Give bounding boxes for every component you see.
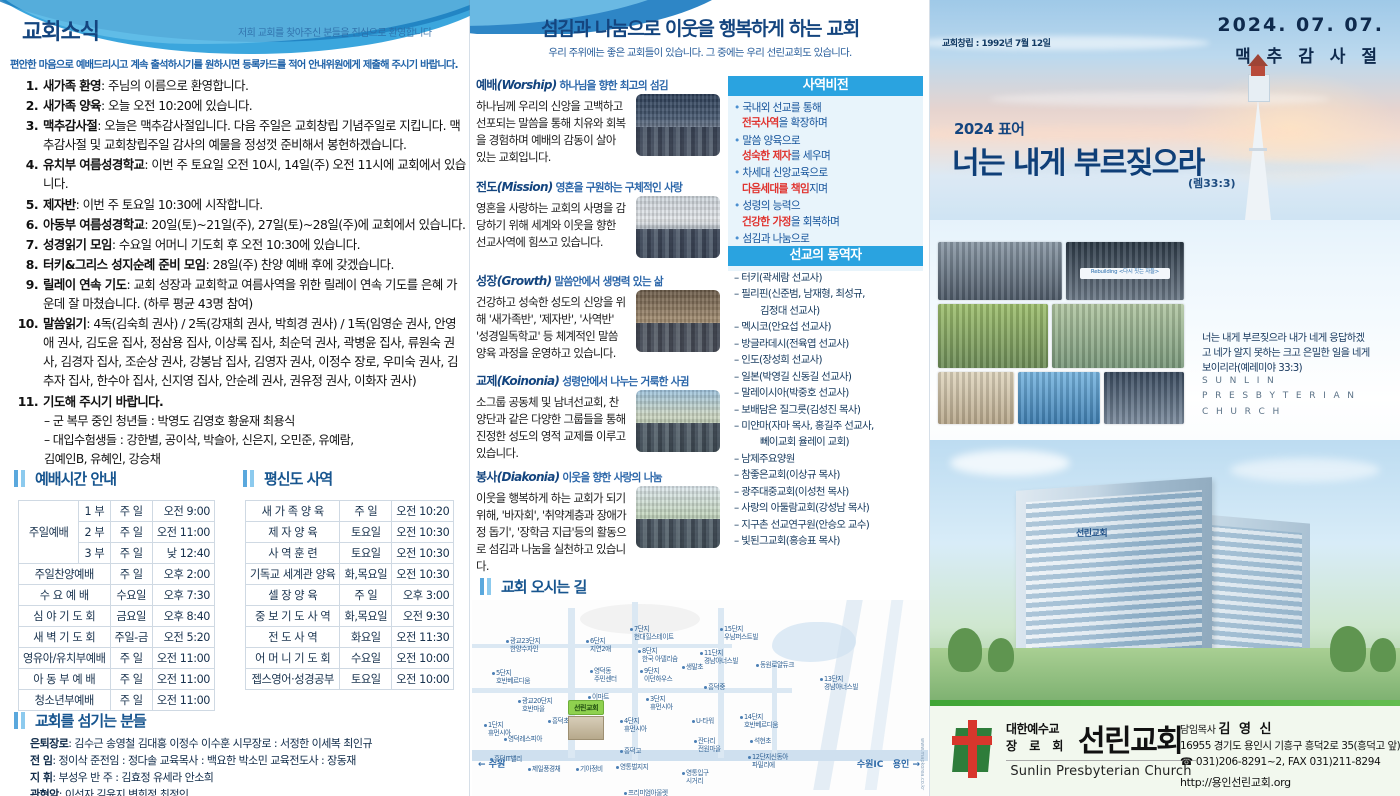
vision-line-2: 다음세대를 책임지며 [734, 182, 917, 197]
map-label-yongin: 용인 → [893, 760, 920, 770]
map-place-label: 9단지이던하우스 [644, 668, 672, 684]
worship-time: 오전 11:00 [152, 648, 214, 669]
lay-name: 제 자 양 육 [246, 522, 340, 543]
vision-box-heading: 사역비전 [728, 76, 923, 96]
worship-day: 주 일 [110, 564, 152, 585]
table-row: 기독교 세계관 양육화,목요일오전 10:30 [246, 564, 454, 585]
announcement-label: 말씀읽기 [43, 316, 86, 331]
announcement-body: 릴레이 연속 기도: 교회 성장과 교회학교 여름사역을 위한 릴레이 연속 기… [43, 275, 466, 313]
map-place-label: 13단지경남아너스빌 [824, 676, 858, 692]
map-dot-icon [630, 628, 633, 631]
announcement-number: 10. [14, 314, 43, 390]
partner-item: – 빛된그교회(홍승표 목사) [734, 533, 919, 549]
service-photo [636, 486, 720, 548]
table-row: 젭스영어·성경공부토요일오전 10:00 [246, 669, 454, 690]
announcement-body: 맥추감사절: 오늘은 맥추감사절입니다. 다음 주일은 교회창립 기념주일로 지… [43, 116, 466, 154]
pillar-description: 이웃을 행복하게 하는 교회가 되기 위해, '바자회', '취약계층과 장애가… [476, 490, 628, 576]
lay-day: 화,목요일 [340, 564, 392, 585]
announcement-label: 새가족 환영 [43, 78, 101, 93]
worship-cell: 주 일 [110, 522, 152, 543]
senior-pastor: 담임목사 김 영 신 [1180, 718, 1273, 737]
lay-time: 오전 11:30 [392, 627, 454, 648]
map-dot-icon [740, 716, 743, 719]
announcement-number: 2. [14, 96, 43, 115]
worship-name: 아 동 부 예 배 [19, 669, 111, 690]
worship-day: 주 일 [110, 690, 152, 711]
map-label-suwonic: 수원IC [857, 760, 884, 770]
vision-line-1: • 섬김과 나눔으로 [734, 232, 917, 247]
worship-name: 수 요 예 배 [19, 585, 111, 606]
map-dot-icon [750, 740, 753, 743]
servant-row: 전 임: 정이삭 준전임 : 정다솔 교육목사 : 백요한 박소민 교육전도사 … [30, 752, 460, 769]
pillar-description: 건강하고 성숙한 성도의 신앙을 위해 '새가족반', '제자반', '사역반'… [476, 294, 628, 362]
vision-item: • 성령의 능력으건강한 가정을 회복하며 [734, 199, 917, 230]
vision-item: • 국내외 선교를 통해전국사역을 확장하며 [734, 101, 917, 132]
church-name-english: Sunlin Presbyterian Church [1006, 760, 1196, 779]
map-place-label: 흥덕고 [624, 748, 641, 756]
pillar-name-ko: 성장 [476, 274, 497, 288]
announcement-item: 1.새가족 환영: 주님의 이름으로 환영합니다. [14, 76, 466, 95]
announcement-item: 6.아동부 여름성경학교: 20일(토)~21일(주), 27일(토)~28일(… [14, 215, 466, 234]
bullet-icon: • [734, 200, 742, 212]
map-place-label: 7단지현대힐스테이트 [634, 626, 674, 642]
pillar-description: 소그룹 공동체 및 남녀선교회, 찬양단과 같은 다양한 그룹들을 통해 진정한… [476, 394, 628, 462]
ministry-pillar: 예배(Worship) 하나님을 향한 최고의 섬김하나님께 우리의 신앙을 고… [476, 76, 726, 166]
pastor-name: 김 영 신 [1219, 722, 1274, 737]
map-dot-icon [616, 766, 619, 769]
lay-day: 토요일 [340, 669, 392, 690]
church-servants-heading: 교회를 섬기는 분들 [14, 710, 146, 731]
bullet-icon: • [734, 102, 742, 114]
church-phone: ☎ 031)206-8291~2, FAX 031)211-8294 [1180, 756, 1381, 768]
section-bars-icon [14, 712, 28, 729]
map-dot-icon [620, 750, 623, 753]
announcement-item: 2.새가족 양육: 오늘 오전 10:20에 있습니다. [14, 96, 466, 115]
announcement-body: 터키&그리스 성지순례 준비 모임: 28일(주) 찬양 예배 후에 갖겠습니다… [43, 255, 466, 274]
lay-time: 오전 10:00 [392, 648, 454, 669]
collage-banner: Rebuilding <다시 짓는 자들> [1080, 268, 1170, 280]
map-place-label: 흥덕초 [552, 718, 569, 726]
collage-photo-outdoor [938, 304, 1048, 368]
pillar-tagline: 이웃을 향한 사랑의 나눔 [559, 472, 661, 484]
pillar-name-en: (Mission) [497, 180, 553, 194]
table-row: 수 요 예 배수요일오후 7:30 [19, 585, 215, 606]
table-row: 중 보 기 도 사 역화,목요일오전 9:30 [246, 606, 454, 627]
worship-cell: 3 부 [79, 543, 110, 564]
pillar-heading: 성장(Growth) 말씀안에서 생명력 있는 삶 [476, 272, 726, 289]
lay-day: 화,목요일 [340, 606, 392, 627]
map-place-label: 영통벌지지 [620, 764, 648, 772]
announcement-list: 1.새가족 환영: 주님의 이름으로 환영합니다.2.새가족 양육: 오늘 오전… [14, 76, 466, 469]
announcement-item: 7.성경읽기 모임: 수요일 어머니 기도회 후 오전 10:30에 있습니다. [14, 235, 466, 254]
map-dot-icon [624, 792, 627, 795]
fellowship-photo [636, 390, 720, 452]
lay-day: 토요일 [340, 543, 392, 564]
bulletin-page: 교회소식 저희 교회를 찾아주신 분들을 진심으로 환영합니다 편안한 마음으로… [0, 0, 1400, 796]
worship-name: 영유아/유치부예배 [19, 648, 111, 669]
bulletin-date: 2024. 07. 07. [1217, 14, 1384, 36]
partner-item: – 방글라데시(전육엽 선교사) [734, 336, 919, 352]
announcement-label: 유치부 여름성경학교 [43, 157, 144, 172]
map-place-label: U-타워 [696, 718, 714, 726]
motto-text: 너는 내게 부르짖으라 [952, 138, 1204, 182]
map-place-label: 광교20단지호반마을 [522, 698, 552, 714]
worship-cell: 오전 9:00 [152, 501, 214, 522]
bible-class-photo [636, 290, 720, 352]
map-dot-icon [640, 670, 643, 673]
ministry-pillar: 봉사(Diakonia) 이웃을 향한 사랑의 나눔이웃을 행복하게 하는 교회… [476, 468, 726, 576]
lighthouse-icon [1236, 52, 1280, 220]
partners-box-heading: 선교의 동역자 [728, 246, 923, 266]
servant-role: 관현악 [30, 788, 59, 796]
map-dot-icon [620, 720, 623, 723]
announcement-body: 제자반: 이번 주 토요일 10:30에 시작합니다. [43, 195, 466, 214]
church-website[interactable]: http://용인선린교회.org [1180, 774, 1291, 790]
lay-name: 기독교 세계관 양육 [246, 564, 340, 585]
collage-photo-children-craft [938, 372, 1014, 424]
worship-day: 주일-금 [110, 627, 152, 648]
map-dot-icon [586, 640, 589, 643]
map-place-label: 생말초 [686, 664, 703, 672]
church-building-thumb [568, 716, 604, 740]
section-bars-icon [14, 470, 28, 487]
prayer-request-line: 김예인B, 유혜인, 강승채 [14, 450, 466, 468]
motto-label: 2024 표어 [954, 118, 1024, 139]
map-place-label: 흥덕중 [708, 684, 725, 692]
church-servants-list: 은퇴장로: 김수근 송영철 김대홍 이정수 이수훈 시무장로 : 서정한 이세복… [30, 735, 460, 796]
ministry-vision-box: 사역비전 • 국내외 선교를 통해전국사역을 확장하며• 말씀 양육으로성숙한 … [728, 76, 923, 271]
pillar-name-ko: 예배 [476, 78, 497, 92]
table-row: 전 도 사 역화요일오전 11:30 [246, 627, 454, 648]
denomination-line-1: 대한예수교 [1006, 720, 1059, 737]
scripture-verse: 너는 내게 부르짖으라 내가 네게 응답하겠고 네가 알지 못하는 크고 은밀한… [1202, 332, 1370, 376]
announcement-item: 5.제자반: 이번 주 토요일 10:30에 시작합니다. [14, 195, 466, 214]
lay-day: 주 일 [340, 501, 392, 522]
partner-item: – 지구촌 선교연구원(안승오 교수) [734, 517, 919, 533]
map-dot-icon [528, 768, 531, 771]
table-row: 제 자 양 육토요일오전 10:30 [246, 522, 454, 543]
map-dot-icon [692, 720, 695, 723]
worship-cell: 1 부 [79, 501, 110, 522]
pillar-heading: 전도(Mission) 영혼을 구원하는 구체적인 사랑 [476, 178, 726, 195]
announcement-number: 8. [14, 255, 43, 274]
pillar-description: 하나님께 우리의 신앙을 고백하고 선포되는 말씀을 통해 치유와 회복을 경험… [476, 98, 628, 166]
partner-list: – 터키(곽세람 선교사)– 필리핀(신준범, 남재형, 최성규,김정대 선교사… [728, 266, 923, 553]
worship-name: 주일찬양예배 [19, 564, 111, 585]
motto-scripture-ref: (렘33:3) [1188, 175, 1236, 191]
map-place-label: 프리미엄아울렛 [628, 790, 668, 796]
vision-highlight: 성숙한 제자 [742, 150, 791, 162]
map-dot-icon [682, 666, 685, 669]
worship-day: 주 일 [110, 669, 152, 690]
announcement-label: 아동부 여름성경학교 [43, 217, 144, 232]
vision-item: • 말씀 양육으로성숙한 제자를 세우며 [734, 134, 917, 165]
map-place-label: 기아정비 [580, 766, 603, 774]
collage-photo-congregation [938, 242, 1062, 300]
table-row: 영유아/유치부예배주 일오전 11:00 [19, 648, 215, 669]
map-dot-icon [492, 672, 495, 675]
worship-time: 오후 8:40 [152, 606, 214, 627]
announcement-item: 9.릴레이 연속 기도: 교회 성장과 교회학교 여름사역을 위한 릴레이 연속… [14, 275, 466, 313]
pillar-heading: 봉사(Diakonia) 이웃을 향한 사랑의 나눔 [476, 468, 726, 485]
vision-highlight: 다음세대를 책임 [742, 183, 809, 195]
lay-day: 주 일 [340, 585, 392, 606]
building-sign-text: 선린교회 [1076, 526, 1107, 539]
map-dot-icon [576, 768, 579, 771]
servant-row: 은퇴장로: 김수근 송영철 김대홍 이정수 이수훈 시무장로 : 서정한 이세복… [30, 735, 460, 752]
location-map[interactable]: 광교23단지한양수자인6단지지연2애7단지현대힐스테이트8단지한국 아델리슘15… [472, 600, 928, 796]
announcement-number: 5. [14, 195, 43, 214]
en-name-line-3: C H U R C H [1202, 405, 1356, 420]
vision-highlight: 건강한 가정 [742, 216, 791, 228]
lay-time: 오전 10:20 [392, 501, 454, 522]
worship-group-label: 주일예배 [19, 501, 79, 564]
map-dot-icon [590, 670, 593, 673]
announcement-body: 유치부 여름성경학교: 이번 주 토요일 오전 10시, 14일(주) 오전 1… [43, 155, 466, 193]
lay-time: 오전 10:30 [392, 522, 454, 543]
left-panel-announcements: 교회소식 저희 교회를 찾아주신 분들을 진심으로 환영합니다 편안한 마음으로… [0, 0, 470, 796]
table-row: 심 야 기 도 회금요일오후 8:40 [19, 606, 215, 627]
lay-time: 오전 10:30 [392, 543, 454, 564]
map-place-label: 광교23단지한양수자인 [510, 638, 540, 654]
worship-time: 오전 11:00 [152, 669, 214, 690]
collage-photo-group [1052, 304, 1184, 368]
worship-time: 오후 7:30 [152, 585, 214, 606]
partner-item: – 광주대중교회(이성천 목사) [734, 484, 919, 500]
partner-item: – 필리핀(신준범, 남재형, 최성규, [734, 286, 919, 302]
table-row: 셀 장 양 육주 일오후 3:00 [246, 585, 454, 606]
right-panel-cover: 교회창립 : 1992년 7월 12일 2024. 07. 07. 맥 추 감 … [930, 0, 1400, 796]
pillar-name-en: (Worship) [497, 78, 557, 92]
map-arrow-yongin: 수원IC 용인 → [857, 757, 920, 770]
lay-time: 오후 3:00 [392, 585, 454, 606]
lay-name: 중 보 기 도 사 역 [246, 606, 340, 627]
worship-name: 청소년부예배 [19, 690, 111, 711]
announcement-number: 3. [14, 116, 43, 154]
lay-ministry-table: 새 가 족 양 육주 일오전 10:20제 자 양 육토요일오전 10:30사 … [245, 500, 454, 690]
table-row: 새 벽 기 도 회주일-금오전 5:20 [19, 627, 215, 648]
servant-role: 전 임 [30, 754, 52, 767]
announcement-label: 성경읽기 모임 [43, 237, 112, 252]
map-dot-icon [694, 740, 697, 743]
announcements-title: 교회소식 [22, 14, 99, 46]
bullet-icon: • [734, 167, 742, 179]
pillar-tagline: 말씀안에서 생명력 있는 삶 [551, 276, 662, 288]
vision-statement-title: 섬김과 나눔으로 이웃을 행복하게 하는 교회 [470, 14, 930, 41]
pillar-name-en: (Diakonia) [497, 470, 560, 484]
announcement-item: 4.유치부 여름성경학교: 이번 주 토요일 오전 10시, 14일(주) 오전… [14, 155, 466, 193]
partner-item: – 미얀마(자마 목사, 홍길주 선교사, [734, 418, 919, 434]
vision-item: • 차세대 신앙교육으로다음세대를 책임지며 [734, 166, 917, 197]
pillar-name-ko: 교제 [476, 374, 497, 388]
map-dot-icon [820, 678, 823, 681]
vision-line-2: 성숙한 제자를 세우며 [734, 149, 917, 164]
pillar-heading: 예배(Worship) 하나님을 향한 최고의 섬김 [476, 76, 726, 93]
partner-item: – 말레이시아(박중호 선교사) [734, 385, 919, 401]
pillar-name-en: (Growth) [497, 274, 552, 288]
bullet-icon: • [734, 233, 742, 245]
lay-day: 토요일 [340, 522, 392, 543]
map-dot-icon [682, 772, 685, 775]
vision-line-2: 건강한 가정을 회복하며 [734, 215, 917, 230]
collage-photo-kids-class [1018, 372, 1100, 424]
middle-panel-vision: 섬김과 나눔으로 이웃을 행복하게 하는 교회 우리 주위에는 좋은 교회들이 … [470, 0, 930, 796]
announcement-item: 11.기도해 주시기 바랍니다. [14, 392, 466, 411]
worship-schedule-heading: 예배시간 안내 [14, 468, 116, 489]
map-place-label: 3단지휴먼시아 [650, 696, 673, 712]
church-name-korean: 선린교회 [1078, 716, 1182, 760]
en-name-line-2: P R E S B Y T E R I A N [1202, 389, 1356, 404]
collage-photo-event: Rebuilding <다시 짓는 자들> [1066, 242, 1184, 300]
map-place-label: 동원로얄듀크 [760, 662, 794, 670]
map-dot-icon [504, 738, 507, 741]
table-row: 새 가 족 양 육주 일오전 10:20 [246, 501, 454, 522]
map-dot-icon [588, 696, 591, 699]
ministry-pillar: 전도(Mission) 영혼을 구원하는 구체적인 사랑영혼을 사랑하는 교회의… [476, 178, 726, 251]
partner-item: – 멕시코(안요섭 선교사) [734, 319, 919, 335]
prayer-request-line: – 군 복무 중인 청년들 : 박영도 김영호 황윤재 최용식 [14, 412, 466, 430]
section-bars-icon [243, 470, 257, 487]
mission-partners-box: 선교의 동역자 – 터키(곽세람 선교사)– 필리핀(신준범, 남재형, 최성규… [728, 246, 923, 553]
table-row: 사 역 훈 련토요일오전 10:30 [246, 543, 454, 564]
lay-day: 수요일 [340, 648, 392, 669]
map-dot-icon [720, 628, 723, 631]
collage-photo-stage [1104, 372, 1184, 424]
announcement-item: 10.말씀읽기: 4독(김숙희 권사) / 2독(강재희 권사, 박희경 권사)… [14, 314, 466, 390]
announcement-item: 8.터키&그리스 성지순례 준비 모임: 28일(주) 찬양 예배 후에 갖겠습… [14, 255, 466, 274]
vision-items: • 국내외 선교를 통해전국사역을 확장하며• 말씀 양육으로성숙한 제자를 세… [728, 96, 923, 271]
worship-name: 새 벽 기 도 회 [19, 627, 111, 648]
partner-item: – 사랑의 아둘람교회(강성남 목사) [734, 500, 919, 516]
church-address: 16955 경기도 용인시 기흥구 흥덕2로 35(흥덕고 앞) [1180, 738, 1400, 753]
ministry-pillar: 교제(Koinonia) 성령안에서 나누는 거룩한 사귐소그룹 공동체 및 남… [476, 372, 726, 462]
lay-name: 어 머 니 기 도 회 [246, 648, 340, 669]
announcement-body: 새가족 양육: 오늘 오전 10:20에 있습니다. [43, 96, 466, 115]
worship-cell: 오전 11:00 [152, 522, 214, 543]
ministry-pillar: 성장(Growth) 말씀안에서 생명력 있는 삶건강하고 성숙한 성도의 신앙… [476, 272, 726, 362]
map-dot-icon [756, 664, 759, 667]
announcement-number: 4. [14, 155, 43, 193]
worship-time: 오전 11:00 [152, 690, 214, 711]
table-row: 어 머 니 기 도 회수요일오전 10:00 [246, 648, 454, 669]
announcement-number: 9. [14, 275, 43, 313]
worship-cell: 낮 12:40 [152, 543, 214, 564]
partner-item: – 일본(박영길 신동길 선교사) [734, 369, 919, 385]
worship-day: 수요일 [110, 585, 152, 606]
partner-item-cont: 뻬이교회 율레이 교회) [734, 434, 919, 450]
map-dot-icon [748, 756, 751, 759]
partner-item-cont: 김정대 선교사) [734, 303, 919, 319]
bulletin-occasion: 맥 추 감 사 절 [1235, 42, 1382, 67]
vision-line-2: 전국사역을 확장하며 [734, 116, 917, 131]
map-place-label: 잔다리전원마을 [698, 738, 721, 754]
partner-item: – 인도(장성희 선교사) [734, 352, 919, 368]
worship-name: 심 야 기 도 회 [19, 606, 111, 627]
map-dot-icon [518, 700, 521, 703]
registration-instruction: 편안한 마음으로 예배드리시고 계속 출석하시기를 원하시면 등록카드를 적어 … [10, 56, 462, 71]
table-row: 주일찬양예배주 일오후 2:00 [19, 564, 215, 585]
pillar-tagline: 성령안에서 나누는 거룩한 사귐 [559, 376, 689, 388]
worship-cell: 주 일 [110, 501, 152, 522]
church-map-pin[interactable]: 선린교회 [568, 700, 604, 740]
worship-day: 주 일 [110, 648, 152, 669]
map-place-label: 4단지휴먼시아 [624, 718, 647, 734]
map-dot-icon [638, 650, 641, 653]
table-row: 주일예배1 부주 일오전 9:00 [19, 501, 215, 522]
church-footer: 대한예수교 장 로 회 선린교회 Sunlin Presbyterian Chu… [930, 706, 1400, 796]
pillar-tagline: 영혼을 구원하는 구체적인 사랑 [553, 182, 683, 194]
map-dot-icon [548, 720, 551, 723]
announcement-body: 기도해 주시기 바랍니다. [43, 392, 466, 411]
welcome-text: 저희 교회를 찾아주신 분들을 진심으로 환영합니다 [238, 24, 432, 39]
map-place-label: 8단지한국 아델리슘 [642, 648, 678, 664]
map-place-label: 영통입구시거리 [686, 770, 709, 786]
church-pin-label: 선린교회 [568, 700, 604, 715]
en-name-line-1: S U N L I N [1202, 374, 1356, 389]
church-founding-date: 교회창립 : 1992년 7월 12일 [942, 36, 1050, 49]
servant-role: 지 휘 [30, 771, 52, 784]
map-place-label: 15단지우남퍼스트빌 [724, 626, 758, 642]
map-dot-icon [704, 686, 707, 689]
table-row: 청소년부예배주 일오전 11:00 [19, 690, 215, 711]
vision-line-1: • 국내외 선교를 통해 [734, 101, 917, 116]
announcement-label: 기도해 주시기 바랍니다. [43, 394, 163, 409]
map-place-label: 14단지호반베르디움 [744, 714, 778, 730]
directions-heading: 교회 오시는 길 [480, 576, 586, 597]
section-bars-icon [480, 578, 494, 595]
lay-time: 오전 10:30 [392, 564, 454, 585]
map-place-label: 제일풍경채 [532, 766, 560, 774]
map-dot-icon [646, 698, 649, 701]
vision-line-1: • 차세대 신앙교육으로 [734, 166, 917, 181]
announcement-number: 7. [14, 235, 43, 254]
partner-item: – 참좋은교회(이상규 목사) [734, 467, 919, 483]
pillar-name-ko: 봉사 [476, 470, 497, 484]
announcement-label: 맥추감사절 [43, 118, 97, 133]
worship-cell: 주 일 [110, 543, 152, 564]
announcement-label: 릴레이 연속 기도 [43, 277, 126, 292]
pillar-tagline: 하나님을 향한 최고의 섬김 [557, 80, 668, 92]
lay-name: 셀 장 양 육 [246, 585, 340, 606]
sanctuary-photo [636, 94, 720, 156]
mission-team-photo [636, 196, 720, 258]
map-place-label: 6단지지연2애 [590, 638, 611, 654]
vision-subtitle: 우리 주위에는 좋은 교회들이 있습니다. 그 중에는 우리 선린교회도 있습니… [470, 44, 930, 59]
announcement-body: 아동부 여름성경학교: 20일(토)~21일(주), 27일(토)~28일(주)… [43, 215, 466, 234]
map-place-label: 5단지호반베르디움 [496, 670, 530, 686]
map-dot-icon [700, 652, 703, 655]
announcement-item: 3.맥추감사절: 오늘은 맥추감사절입니다. 다음 주일은 교회창립 기념주일로… [14, 116, 466, 154]
partner-item: – 보배담은 질그릇(김성진 목사) [734, 402, 919, 418]
church-building-photo: 선린교회 [930, 440, 1400, 700]
pillar-heading: 교제(Koinonia) 성령안에서 나누는 거룩한 사귐 [476, 372, 726, 389]
map-fineprint: www.mapkorea.co.kr [919, 738, 925, 790]
worship-time: 오후 2:00 [152, 564, 214, 585]
announcement-body: 성경읽기 모임: 수요일 어머니 기도회 후 오전 10:30에 있습니다. [43, 235, 466, 254]
servant-row: 지 휘: 부성우 반 주 : 김효정 유세라 안소희 [30, 769, 460, 786]
pastor-label: 담임목사 [1180, 725, 1216, 736]
worship-cell: 2 부 [79, 522, 110, 543]
announcement-number: 6. [14, 215, 43, 234]
prayer-request-line: – 대입수험생들 : 강한별, 공이삭, 박슬아, 신은지, 오민준, 유예람, [14, 431, 466, 449]
map-place-label: 영덕레스피아 [508, 736, 542, 744]
map-place-label: 석현초 [754, 738, 771, 746]
lay-name: 전 도 사 역 [246, 627, 340, 648]
announcement-body: 새가족 환영: 주님의 이름으로 환영합니다. [43, 76, 466, 95]
map-place-label: 11단지경남아너스빌 [704, 650, 738, 666]
lay-name: 사 역 훈 련 [246, 543, 340, 564]
pillar-name-en: (Koinonia) [497, 374, 560, 388]
